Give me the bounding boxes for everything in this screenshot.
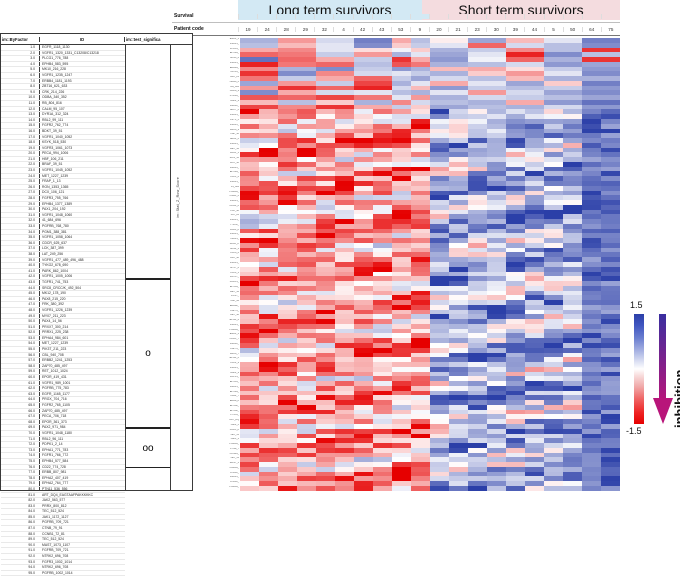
gene-row-index: 70.0 (1, 431, 39, 436)
survival-cell (372, 14, 391, 19)
significance-box-double: oo (126, 428, 170, 468)
gene-table-body: 1.0EGFR_1118_11302.0VGFR1_1320_1331_C132… (1, 45, 192, 491)
gene-row-index: 17.0 (1, 135, 39, 140)
gene-row-index: 27.0 (1, 190, 39, 195)
patient-code-cell: 50 (563, 27, 582, 32)
gene-row-index: 64.0 (1, 397, 39, 402)
gene-row-id: LCK_387_399 (39, 246, 125, 251)
gene-row-index: 14.0 (1, 118, 39, 123)
gene-row-id: VGFR1_477_489_496_488 (39, 258, 125, 263)
heatmap-cell[interactable] (278, 486, 297, 491)
gene-row-id: ZAP70_485_497 (39, 364, 125, 369)
gene-row-index: 20.0 (1, 151, 39, 156)
gene-row-index: 23.0 (1, 168, 39, 173)
gene-row-id: EGFR_1165_1177 (39, 392, 125, 397)
gene-row-id: CBL_940_708 (39, 353, 125, 358)
gene-row-index: 35.0 (1, 235, 39, 240)
gene-row-id: VGFR1_1005_1006 (39, 274, 125, 279)
gene-row-id: VGFR1_1235_1247 (39, 73, 125, 78)
gene-row-index: 47.0 (1, 302, 39, 307)
gene-row-index: 10.0 (1, 95, 39, 100)
gene-table-header: im::ByFactor ID im::test_significa (1, 34, 192, 45)
gene-row-id: FGFR2_765_1105 (39, 403, 125, 408)
gene-row-id: VGFR1_1048_1180 (39, 431, 125, 436)
gene-row-index: 30.0 (1, 207, 39, 212)
gene-row-index: 7.0 (1, 79, 39, 84)
patient-code-row: Patient code 192428293244243539202123303… (172, 23, 620, 36)
gene-row-index: 68.0 (1, 420, 39, 425)
gene-row-id: MET_1227_1239 (39, 341, 125, 346)
gene-row-index: 59.0 (1, 369, 39, 374)
heatmap-cell[interactable] (316, 486, 335, 491)
survival-cell (505, 14, 524, 19)
survival-cells (238, 14, 620, 19)
table-row[interactable]: 95.0PGFRB_1002_1014 (1, 571, 125, 576)
gene-row-index: 75.0 (1, 459, 39, 464)
survival-cell (582, 14, 601, 19)
gene-row-index: 38.0 (1, 252, 39, 257)
gene-row-id: PARK_862_1004 (39, 269, 125, 274)
survival-cell (276, 14, 295, 19)
gene-row-id: ART_DQ4_EAGTAAFPAKKKKKC (39, 493, 125, 498)
gene-row-id: TGFR1_741_753 (39, 280, 125, 285)
gene-row-index: 81.0 (1, 493, 39, 498)
gene-row-id: ODBA_340_352 (39, 95, 125, 100)
gene-row-index: 88.0 (1, 532, 39, 537)
gene-row-id: EPHB4_577_584 (39, 459, 125, 464)
gene-row-id: PRRX_800_812 (39, 504, 125, 509)
gene-row-id: BRAF_39_51 (39, 162, 125, 167)
survival-cell (295, 14, 314, 19)
gene-row-id: BDKT_39_51 (39, 129, 125, 134)
survival-cell (563, 14, 582, 19)
gene-row-id: ERBB_807_981 (39, 470, 125, 475)
survival-cell (544, 14, 563, 19)
heatmap-cell[interactable] (240, 486, 259, 491)
gene-row-id: CCNB1_72_81 (39, 532, 125, 537)
gene-row-id: MAST_1073_1107 (39, 543, 125, 548)
gene-row-id: DYR1A_312_324 (39, 112, 125, 117)
gene-row-index: 12.0 (1, 107, 39, 112)
gene-row-index: 24.0 (1, 174, 39, 179)
gene-row-index: 83.0 (1, 504, 39, 509)
gene-row-index: 42.0 (1, 274, 39, 279)
gene-row-id: PGFRB_775_783 (39, 386, 125, 391)
significance-box-none (126, 45, 170, 279)
gene-row-id: PECA_994_1006 (39, 151, 125, 156)
gene-row-index: 85.0 (1, 515, 39, 520)
heatmap-cell[interactable] (563, 486, 582, 491)
column-header-id: ID (39, 37, 125, 42)
gene-row-id: EPHA2_764_777 (39, 481, 125, 486)
survival-cell (467, 14, 486, 19)
gene-row-id: VGFR1_1040_1052 (39, 135, 125, 140)
patient-code-cells: 1924282932442435392021233039445506475 (238, 27, 620, 32)
gene-row-id: TEC_512_524 (39, 509, 125, 514)
gene-row-index: 39.0 (1, 258, 39, 263)
heatmap-cell[interactable] (259, 486, 278, 491)
gene-row-index: 76.0 (1, 465, 39, 470)
gene-row-id: JAK1_1172_1127 (39, 515, 125, 520)
patient-code-label: Patient code (172, 26, 238, 32)
gene-row-index: 51.0 (1, 325, 39, 330)
legend-caption-inhibition: inhibition (672, 370, 680, 428)
gene-row-index: 69.0 (1, 425, 39, 430)
gene-row-id: PIK3T_211_223 (39, 347, 125, 352)
survival-cell (601, 14, 620, 19)
gene-row-id: FRK_380_392 (39, 302, 125, 307)
gene-row-index: 29.0 (1, 202, 39, 207)
patient-code-cell: 64 (582, 27, 601, 32)
survival-label: Survival (172, 13, 238, 19)
gene-row-index: 73.0 (1, 448, 39, 453)
gene-row-index: 63.0 (1, 392, 39, 397)
gene-row-index: 71.0 (1, 437, 39, 442)
gene-row-index: 40.0 (1, 263, 39, 268)
gene-row-index: 94.0 (1, 565, 39, 570)
gene-row-id: CTNB_79_91 (39, 526, 125, 531)
gene-row-id: FGFR3_1002_1014 (39, 560, 125, 565)
gene-row-id: PDPK1_2_14 (39, 442, 125, 447)
gene-row-id: NTRK2_696_708 (39, 565, 125, 570)
table-divider-3 (170, 45, 171, 491)
gene-row-id: PGFRB_768_780 (39, 224, 125, 229)
gene-row-id: CRK_214_226 (39, 90, 125, 95)
heatmap-cell[interactable] (354, 486, 373, 491)
gene-row-id: 41_684_696 (39, 218, 125, 223)
gene-row-index: 78.0 (1, 476, 39, 481)
gene-row-index: 26.0 (1, 185, 39, 190)
gene-row-id: EPHB4_1377_1389 (39, 202, 125, 207)
gene-row-index: 92.0 (1, 554, 39, 559)
gene-row-id: CD22_774_728 (39, 465, 125, 470)
gene-row-index: 15.0 (1, 123, 39, 128)
gene-row-id: EPHA2_407_419 (39, 476, 125, 481)
gene-row-index: 4.0 (1, 62, 39, 67)
gene-row-index: 87.0 (1, 526, 39, 531)
gene-row-index: 3.0 (1, 56, 39, 61)
gene-row-index: 55.0 (1, 347, 39, 352)
patient-code-cell: 75 (601, 27, 620, 32)
gene-row-id: PGM1_388_381 (39, 230, 125, 235)
gene-row-id: PGFRB_1002_1014 (39, 571, 125, 576)
gene-row-id: EPHA1_771_783 (39, 448, 125, 453)
gene-row-index: 91.0 (1, 548, 39, 553)
gene-row-id: PECA_706_718 (39, 414, 125, 419)
gene-row-index: 5.0 (1, 67, 39, 72)
gene-row-id: RBL2_99_111 (39, 118, 125, 123)
gene-row-id: VGFR1_1226_1239 (39, 308, 125, 313)
gene-row-index: 58.0 (1, 364, 39, 369)
survival-cell (257, 14, 276, 19)
gene-row-index: 46.0 (1, 297, 39, 302)
gene-row-index: 34.0 (1, 230, 39, 235)
gene-row-id: TEC_512_524 (39, 537, 125, 542)
gene-row-id: DCX_106_121 (39, 190, 125, 195)
survival-cell (238, 14, 257, 19)
gene-row-index: 48.0 (1, 308, 39, 313)
gene-row-index: 95.0 (1, 571, 39, 576)
heatmap-cell[interactable] (411, 486, 430, 491)
patient-code-cell: 19 (238, 27, 257, 32)
gene-row-id: PAX4_14_56 (39, 319, 125, 324)
gene-row-index: 41.0 (1, 269, 39, 274)
gene-row-index: 45.0 (1, 291, 39, 296)
gene-row-id: VGFR3_1061_1073 (39, 146, 125, 151)
gene-row-id: VGFR1_1045_1052 (39, 168, 125, 173)
gene-row-id: FGFRB_709_721 (39, 548, 125, 553)
gene-row-id: EPHA4_984_601 (39, 336, 125, 341)
heatmap-cell[interactable] (392, 486, 411, 491)
gene-row-index: 65.0 (1, 403, 39, 408)
gene-row-index: 50.0 (1, 319, 39, 324)
gene-row-id: PRRX1_225_238 (39, 330, 125, 335)
patient-code-cell: 9 (410, 27, 429, 32)
gene-row-index: 84.0 (1, 509, 39, 514)
gene-row-index: 74.0 (1, 453, 39, 458)
gene-row-id: RB_804_816 (39, 101, 125, 106)
gene-row-index: 31.0 (1, 213, 39, 218)
gene-row-index: 13.0 (1, 112, 39, 117)
gene-row-id: VGFR1_1048_1060 (39, 213, 125, 218)
gene-row-index: 93.0 (1, 560, 39, 565)
gene-row-id: FGFR1_766_772 (39, 453, 125, 458)
gene-row-index: 53.0 (1, 336, 39, 341)
survival-cell (314, 14, 333, 19)
gene-row-id: MY07_211_223 (39, 314, 125, 319)
gene-row-id: FGFR2_762_774 (39, 123, 125, 128)
patient-code-cell: 23 (467, 27, 486, 32)
heatmap-cell[interactable] (335, 486, 354, 491)
gene-row-index: 82.0 (1, 498, 39, 503)
heatmap-row (240, 486, 620, 491)
gene-row-id: MK12_178_190 (39, 291, 125, 296)
heatmap-cell[interactable] (525, 486, 544, 491)
survival-cell (429, 14, 448, 19)
gene-row-index: 8.0 (1, 84, 39, 89)
gene-row-index: 86.0 (1, 520, 39, 525)
gene-row-index: 37.0 (1, 246, 39, 251)
gene-row-id: LAT_249_256 (39, 252, 125, 257)
gene-row-id: PAX1_204_192 (39, 207, 125, 212)
patient-code-cell: 32 (314, 27, 333, 32)
patient-code-cell: 30 (486, 27, 505, 32)
gene-row-id: EGFR_1118_1130 (39, 45, 125, 50)
legend-color-bar (634, 314, 644, 424)
gene-row-index: 72.0 (1, 442, 39, 447)
gene-row-index: 36.0 (1, 241, 39, 246)
patient-code-cell: 39 (505, 27, 524, 32)
survival-row: Survival (172, 10, 620, 23)
gene-row-id: HBF_106_211 (39, 157, 125, 162)
patient-code-cell: 43 (372, 27, 391, 32)
gene-row-id: ZBT16_621_633 (39, 84, 125, 89)
gene-row-index: 44.0 (1, 286, 39, 291)
gene-row-id: FRAP_1_13 (39, 179, 125, 184)
gene-row-index: 49.0 (1, 314, 39, 319)
gene-row-index: 43.0 (1, 280, 39, 285)
color-scale-legend: 1.5 -1.5 inhibition (626, 300, 680, 440)
gene-row-index: 77.0 (1, 470, 39, 475)
gene-row-index: 11.0 (1, 101, 39, 106)
inhibition-arrow-icon (652, 314, 674, 426)
gene-row-id: PRXX7_300_214 (39, 325, 125, 330)
gene-row-id: FGFR3_755_766 (39, 196, 125, 201)
row-score-axis-caption: im::Stat_Z_Row_Score (176, 177, 180, 218)
sample-metadata-header: Survival Patient code 192428293244243539… (172, 10, 620, 38)
gene-row-list: 1.0EGFR_1118_11302.0VGFR1_1320_1331_C132… (1, 45, 125, 576)
gene-row-index: 54.0 (1, 341, 39, 346)
gene-row-index: 18.0 (1, 140, 39, 145)
column-header-test-significance: im::test_significa (125, 37, 170, 42)
legend-max-value: 1.5 (630, 300, 643, 310)
gene-row-index: 19.0 (1, 146, 39, 151)
survival-cell (486, 14, 505, 19)
patient-code-cell: 20 (429, 27, 448, 32)
gene-row-id: VGFR1_989_1001 (39, 381, 125, 386)
gene-feature-table[interactable]: im::ByFactor ID im::test_significa 1.0EG… (0, 33, 193, 491)
gene-row-index: 1.0 (1, 45, 39, 50)
column-header-byfactor: im::ByFactor (1, 37, 39, 42)
gene-row-id: EPOR_419_431 (39, 375, 125, 380)
gene-row-index: 79.0 (1, 481, 39, 486)
gene-row-index: 62.0 (1, 386, 39, 391)
gene-row-id: ERBB4_1181_1193 (39, 79, 125, 84)
gene-row-id: VGFR1_1320_1331_C13208/C13218 (39, 51, 125, 56)
gene-row-id: EPHB4_583_595 (39, 62, 125, 67)
gene-row-index: 60.0 (1, 375, 39, 380)
gene-row-index: 61.0 (1, 381, 39, 386)
gene-row-index: 57.0 (1, 358, 39, 363)
gene-row-id: KSYK_518_530 (39, 140, 125, 145)
patient-code-cell: 29 (295, 27, 314, 32)
gene-row-id: TYKO2_678_690 (39, 263, 125, 268)
gene-row-id: PLCG1_776_788 (39, 56, 125, 61)
gene-row-index: 16.0 (1, 129, 39, 134)
heatmap-row-label: PGFRB_ (226, 486, 239, 491)
heatmap-cell[interactable] (297, 486, 316, 491)
heatmap-cell[interactable] (544, 486, 563, 491)
significance-box-single: o (126, 279, 170, 428)
gene-row-id: EPOR_361_373 (39, 420, 125, 425)
gene-row-index: 32.0 (1, 218, 39, 223)
gene-row-index: 9.0 (1, 90, 39, 95)
gene-row-index: 28.0 (1, 196, 39, 201)
gene-row-index: 89.0 (1, 537, 39, 542)
gene-row-id: CALM_95_107 (39, 107, 125, 112)
gene-row-id: PRGX_704_716 (39, 397, 125, 402)
gene-row-index: 90.0 (1, 543, 39, 548)
gene-row-id: MK10_216_228 (39, 67, 125, 72)
gene-row-index: 52.0 (1, 330, 39, 335)
gene-row-index: 56.0 (1, 353, 39, 358)
gene-row-id: PGFRB_709_721 (39, 520, 125, 525)
gene-row-id: RON_1353_1365 (39, 185, 125, 190)
survival-cell (410, 14, 429, 19)
patient-code-cell: 44 (524, 27, 543, 32)
patient-code-cell: 28 (276, 27, 295, 32)
legend-min-value: -1.5 (626, 426, 642, 436)
gene-row-index: 25.0 (1, 179, 39, 184)
heatmap-cell[interactable] (373, 486, 392, 491)
gene-row-index: 21.0 (1, 157, 39, 162)
gene-row-id: JAK2_563_577 (39, 498, 125, 503)
heatmap-row-labels: EGFR_1VGFR1_PLCG1_EPHB4_MK10_2VGFR1_ERBB… (226, 38, 239, 490)
heatmap-cell[interactable] (449, 486, 468, 491)
gene-row-index: 22.0 (1, 162, 39, 167)
heatmap-cell[interactable] (506, 486, 525, 491)
gene-row-id: NTRK2_696_708 (39, 554, 125, 559)
gene-row-id: MET_1227_1239 (39, 174, 125, 179)
gene-row-id: SRC8_CRCC/K_492_504 (39, 286, 125, 291)
gene-row-id: CDCR_625_637 (39, 241, 125, 246)
gene-row-id: PAX2_971_984 (39, 425, 125, 430)
heatmap-cell[interactable] (601, 486, 620, 491)
survival-cell (524, 14, 543, 19)
survival-cell (391, 14, 410, 19)
heatmap-matrix[interactable] (240, 38, 620, 490)
survival-cell (353, 14, 372, 19)
patient-code-cell: 21 (448, 27, 467, 32)
gene-row-index: 33.0 (1, 224, 39, 229)
patient-code-cell: 42 (353, 27, 372, 32)
gene-row-id: ZAP70_485_497 (39, 409, 125, 414)
survival-cell (448, 14, 467, 19)
gene-row-id: ERBB2_1241_1253 (39, 358, 125, 363)
gene-row-index: 6.0 (1, 73, 39, 78)
patient-code-cell: 5 (544, 27, 563, 32)
gene-row-id: RBL2_96_111 (39, 437, 125, 442)
gene-row-index: 66.0 (1, 409, 39, 414)
gene-row-id: PAX8_215_220 (39, 297, 125, 302)
gene-row-index: 2.0 (1, 51, 39, 56)
heatmap-cell[interactable] (430, 486, 449, 491)
patient-code-cell: 24 (257, 27, 276, 32)
gene-row-id: RET_1012_1024 (39, 369, 125, 374)
gene-row-index: 67.0 (1, 414, 39, 419)
gene-row-id: VGFR1_1058_1064 (39, 235, 125, 240)
heatmap-cell[interactable] (582, 486, 601, 491)
survival-cell (333, 14, 352, 19)
heatmap-cell[interactable] (487, 486, 506, 491)
patient-code-cell: 4 (333, 27, 352, 32)
patient-code-cell: 53 (391, 27, 410, 32)
heatmap-cell[interactable] (468, 486, 487, 491)
